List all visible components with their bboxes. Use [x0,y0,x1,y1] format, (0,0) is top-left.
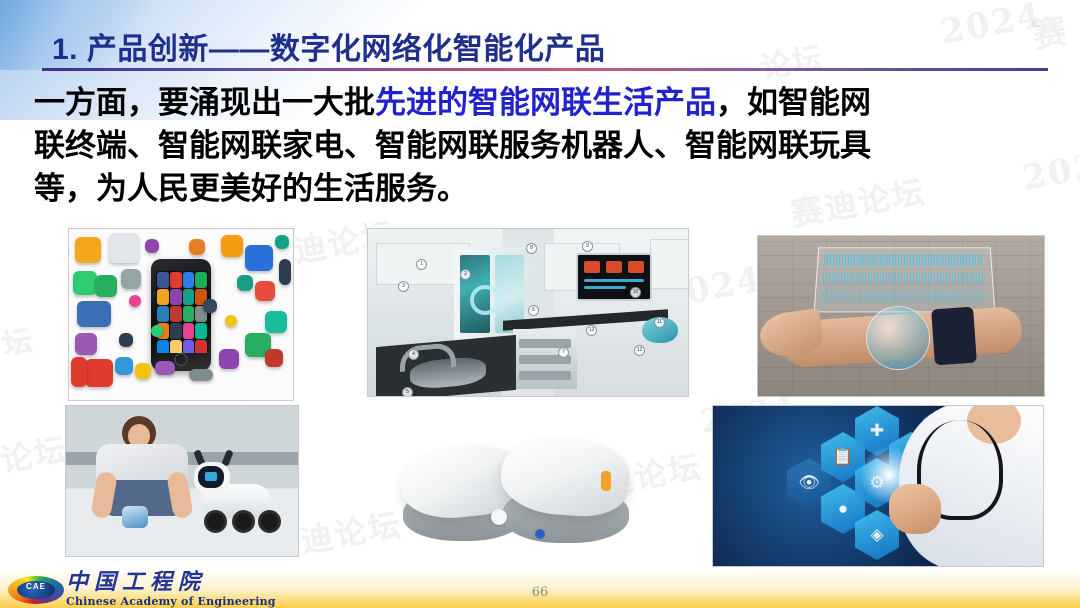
body-line3: 等，为人民更美好的生活服务。 [34,171,468,206]
floating-app-icon [151,325,163,337]
phone-home-button [175,353,188,366]
floating-app-icon [109,233,139,263]
image-smartphone-apps [68,228,294,401]
holographic-panel [814,247,996,312]
floating-app-icon [189,369,213,381]
kitchen-callout-tag: 9 [582,241,593,252]
floating-app-icon [121,269,141,289]
phone-app-icon [195,323,207,339]
floating-app-icon [75,333,97,355]
image-smart-foot-massager [395,425,641,561]
floating-app-icon [221,235,243,257]
floating-app-icon [275,235,289,249]
robot-dog-wheel-mid [232,510,255,533]
massager-indicator-blue [535,529,545,539]
presentation-slide: 2024赛论坛2024 赛迪论坛2024赛迪论坛2024坛论坛论坛赛迪论坛迪论坛… [0,0,1080,608]
phone-app-icon [157,272,169,288]
body-line2: 联终端、智能网联家电、智能网联服务机器人、智能网联玩具 [34,128,871,163]
floating-app-icon [245,245,273,271]
kitchen-callout-tag: 6 [528,305,539,316]
massager-indicator-orange [601,471,611,491]
floating-app-icon [95,275,117,297]
doctor-hand [889,484,941,534]
floating-app-icon [145,239,159,253]
watermark-text: 2024 [937,0,1045,53]
robot-dog-eye [205,472,217,481]
kitchen-callout-tag: 13 [586,325,597,336]
title-underline [42,68,1048,71]
image-smart-kitchen: 13245678910111213 [367,228,689,397]
body-line1-highlight: 先进的智能网联生活产品 [375,85,716,120]
kitchen-shelf-right [650,239,689,289]
floating-app-icon [73,271,97,295]
floating-app-icon [71,357,87,387]
kitchen-callout-tag: 5 [402,387,413,397]
floating-app-icon [279,259,291,285]
body-line1-post: ，如智能网 [716,85,871,120]
robot-dog-wheel-front [204,510,227,533]
kitchen-callout-tag: 10 [630,287,641,298]
image-child-robot-dog [65,405,299,557]
phone-screen [156,271,208,353]
fridge-glass-left [460,255,490,333]
floating-app-icon [77,301,111,327]
kitchen-callout-tag: 12 [634,345,645,356]
floating-app-icon [219,349,239,369]
kitchen-callout-tag: 2 [460,269,471,280]
phone-app-icon [170,340,182,353]
floating-app-icon [189,239,205,255]
floating-app-icon [155,361,175,375]
kitchen-callout-tag: 3 [398,281,409,292]
massager-button-white [491,509,507,525]
floating-app-icon [135,363,151,379]
kitchen-callout-tag: 4 [408,349,419,360]
phone-app-icon [157,289,169,305]
floating-app-icon [265,311,287,333]
watermark-text: 坛 [0,316,38,365]
floating-app-icon [225,315,237,327]
phone-app-icon [183,289,195,305]
small-blue-toy [122,506,148,528]
floating-app-icon [255,281,275,301]
phone-app-icon [183,306,195,322]
watermark-text: 迪论坛 [297,499,405,562]
phone-app-icon [170,289,182,305]
watermark-text: 论坛 [757,33,828,87]
floating-app-icon [237,275,253,291]
wearable-wristband [931,307,977,366]
smartphone-illustration [151,259,211,371]
phone-app-icon [157,306,169,322]
floating-app-icon [119,333,133,347]
slide-title: 1. 产品创新——数字化网络化智能化产品 [52,24,605,68]
holographic-lens [866,306,930,370]
robot-dog-wheel-rear [258,510,281,533]
watermark-text: 赛 [1028,3,1072,58]
phone-app-icon [183,272,195,288]
phone-app-icon [195,340,207,353]
image-wearable-hologram [757,235,1045,397]
watermark-text: 论坛 [0,424,71,481]
phone-app-icon [157,340,169,353]
slide-page-number: 66 [0,585,1080,600]
phone-app-icon [183,340,195,353]
slide-body-text: 一方面，要涌现出一大批先进的智能网联生活产品，如智能网 联终端、智能网联家电、智… [34,82,1054,210]
image-smart-healthcare: 👁 📋 ● ✚ ⚙ ◈ 👤 💼 певна; [712,405,1044,567]
kitchen-callout-tag: 7 [558,347,569,358]
phone-app-icon [170,272,182,288]
phone-app-icon [183,323,195,339]
floating-app-icon [265,349,283,367]
phone-app-icon [195,272,207,288]
body-line1-pre: 一方面，要涌现出一大批 [34,85,375,120]
floating-app-icon [115,357,133,375]
kitchen-drawer-unit [513,329,577,389]
floating-app-icon [129,295,141,307]
phone-app-icon [170,323,182,339]
floating-app-icon [75,237,101,263]
kitchen-callout-tag: 8 [526,243,537,254]
floating-app-icon [85,359,113,387]
kitchen-callout-tag: 11 [654,317,665,328]
kitchen-callout-tag: 1 [416,259,427,270]
phone-app-icon [170,306,182,322]
floating-app-icon [203,299,217,313]
